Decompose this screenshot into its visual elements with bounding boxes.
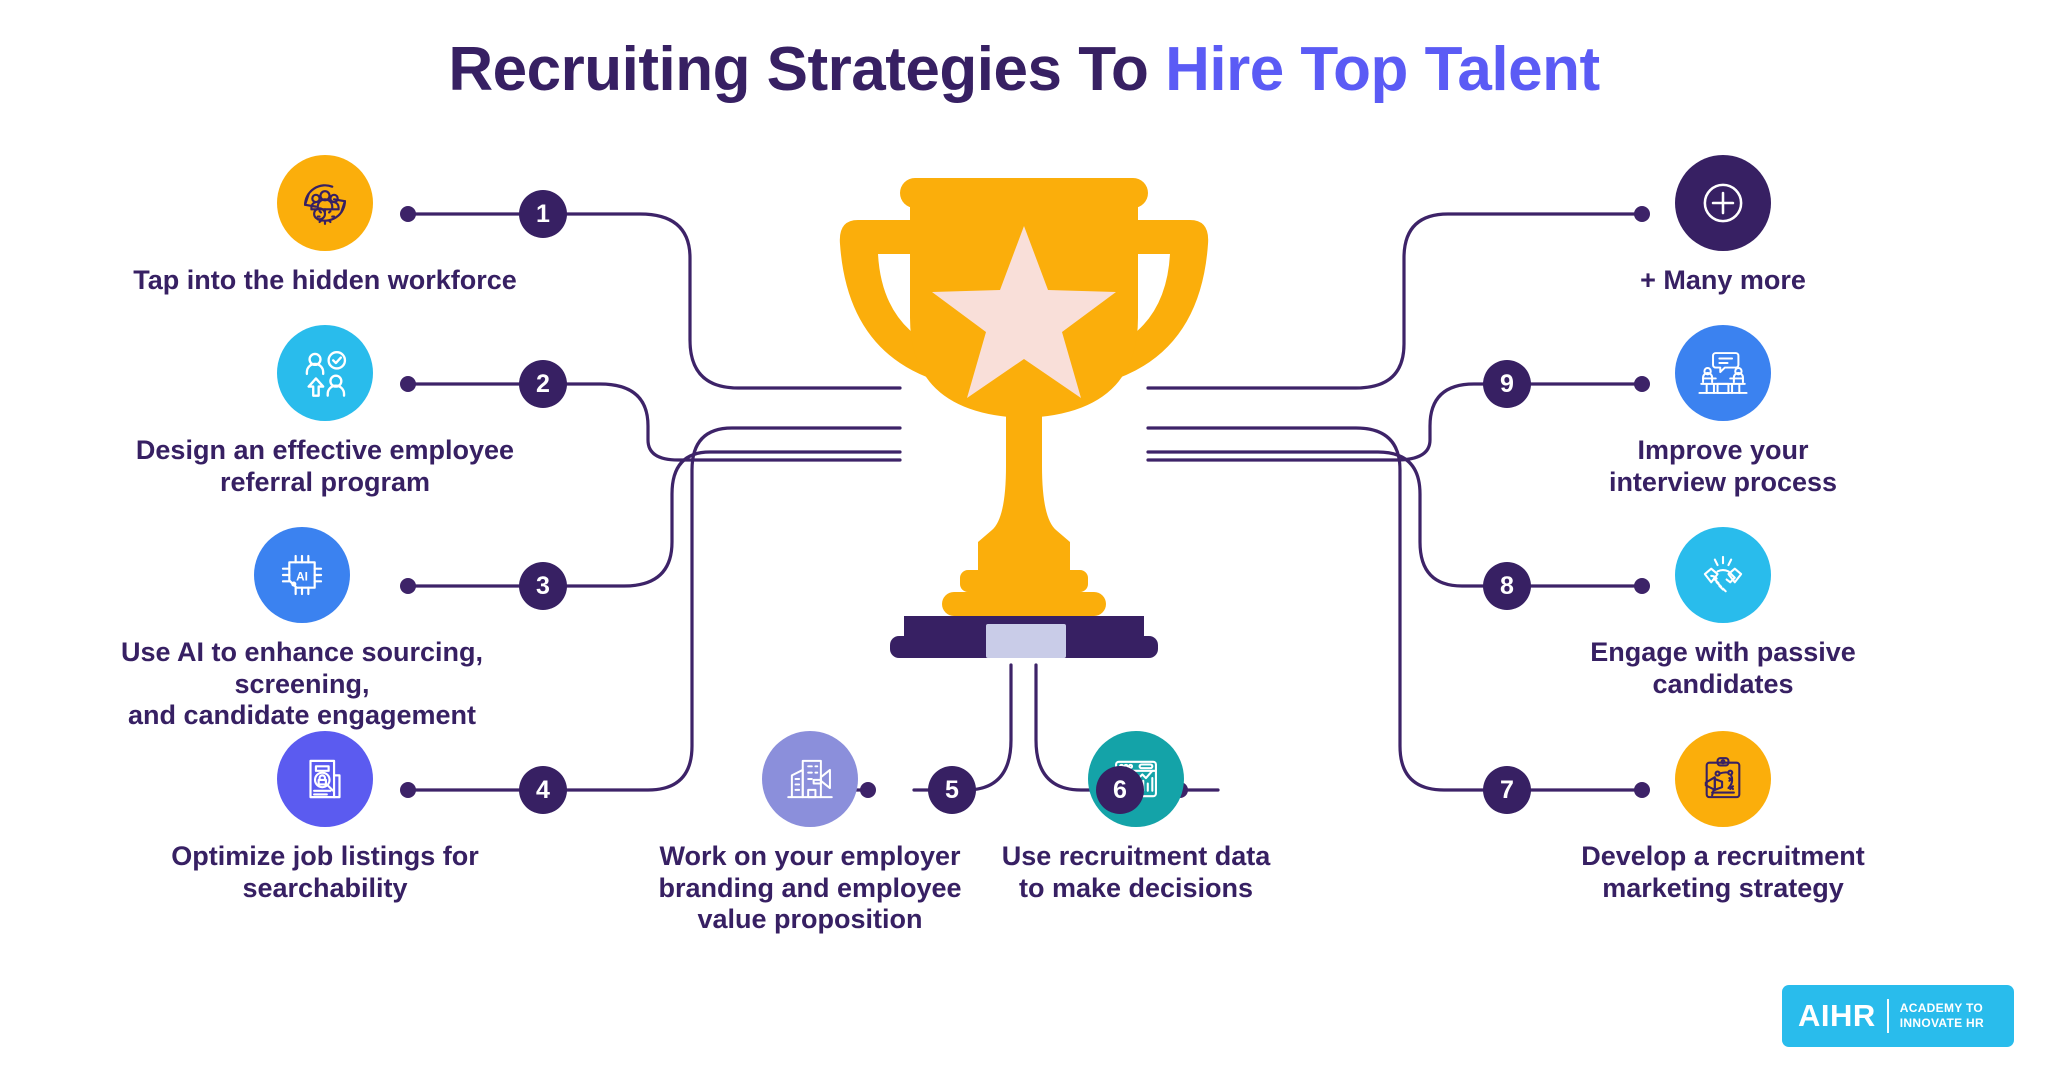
step-badge-3: 3	[519, 562, 567, 610]
step-icon-many-more[interactable]	[1675, 155, 1771, 251]
badge-number: 4	[536, 776, 550, 805]
logo-tagline-line1: ACADEMY TO	[1900, 1001, 1983, 1015]
step-icon-1[interactable]	[277, 155, 373, 251]
step-icon-7[interactable]	[1675, 731, 1771, 827]
step-badge-9: 9	[1483, 360, 1531, 408]
step-badge-6: 6	[1096, 766, 1144, 814]
badge-number: 9	[1500, 370, 1514, 399]
badge-number: 7	[1500, 776, 1514, 805]
step-badge-4: 4	[519, 766, 567, 814]
step-badge-2: 2	[519, 360, 567, 408]
step-node-2[interactable]: Design an effective employee referral pr…	[115, 325, 535, 498]
badge-number: 3	[536, 572, 550, 601]
marketing-clipboard-megaphone-icon	[1694, 750, 1752, 808]
step-label-many-more: + Many more	[1513, 265, 1933, 297]
step-icon-9[interactable]	[1675, 325, 1771, 421]
infographic-canvas: Recruiting Strategies To Hire Top Talent	[0, 0, 2048, 1071]
badge-number: 8	[1500, 572, 1514, 601]
employer-branding-megaphone-icon	[781, 750, 839, 808]
step-node-4[interactable]: Optimize job listings for searchability	[115, 731, 535, 904]
badge-number: 2	[536, 370, 550, 399]
aihr-logo: AIHR ACADEMY TO INNOVATE HR	[1782, 985, 2014, 1047]
step-icon-2[interactable]	[277, 325, 373, 421]
step-icon-8[interactable]	[1675, 527, 1771, 623]
logo-tagline: ACADEMY TO INNOVATE HR	[1900, 1001, 1984, 1031]
badge-number: 1	[536, 200, 550, 229]
badge-number: 6	[1113, 776, 1127, 805]
step-node-6[interactable]: Use recruitment data to make decisions	[926, 731, 1346, 904]
logo-tagline-line2: INNOVATE HR	[1900, 1016, 1984, 1030]
step-icon-3[interactable]: AI	[254, 527, 350, 623]
step-label-7: Develop a recruitment marketing strategy	[1513, 841, 1933, 904]
job-listing-search-icon	[296, 750, 354, 808]
step-node-1[interactable]: Tap into the hidden workforce	[115, 155, 535, 297]
interview-meeting-icon	[1694, 344, 1752, 402]
step-label-2: Design an effective employee referral pr…	[115, 435, 535, 498]
plus-circle-icon	[1694, 174, 1752, 232]
ai-chip-icon: AI	[273, 546, 331, 604]
step-node-8[interactable]: Engage with passive candidates	[1513, 527, 1933, 700]
step-icon-4[interactable]	[277, 731, 373, 827]
step-label-8: Engage with passive candidates	[1513, 637, 1933, 700]
step-node-9[interactable]: Improve your interview process	[1513, 325, 1933, 498]
step-node-3[interactable]: AI Use AI to enhance sourcing, screening…	[92, 527, 512, 732]
svg-text:AI: AI	[296, 570, 308, 583]
step-badge-1: 1	[519, 190, 567, 238]
step-label-4: Optimize job listings for searchability	[115, 841, 535, 904]
step-badge-8: 8	[1483, 562, 1531, 610]
step-icon-5[interactable]	[762, 731, 858, 827]
step-label-3: Use AI to enhance sourcing, screening, a…	[92, 637, 512, 732]
handshake-icon	[1694, 546, 1752, 604]
step-label-1: Tap into the hidden workforce	[115, 265, 535, 297]
logo-mark: AIHR	[1798, 998, 1876, 1034]
step-node-7[interactable]: Develop a recruitment marketing strategy	[1513, 731, 1933, 904]
step-badge-7: 7	[1483, 766, 1531, 814]
trophy-illustration	[838, 178, 1210, 658]
step-node-many-more[interactable]: + Many more	[1513, 155, 1933, 297]
step-label-9: Improve your interview process	[1513, 435, 1933, 498]
employee-referral-icon	[296, 344, 354, 402]
logo-divider	[1887, 999, 1889, 1033]
people-gear-refresh-icon	[296, 174, 354, 232]
step-label-6: Use recruitment data to make decisions	[926, 841, 1346, 904]
